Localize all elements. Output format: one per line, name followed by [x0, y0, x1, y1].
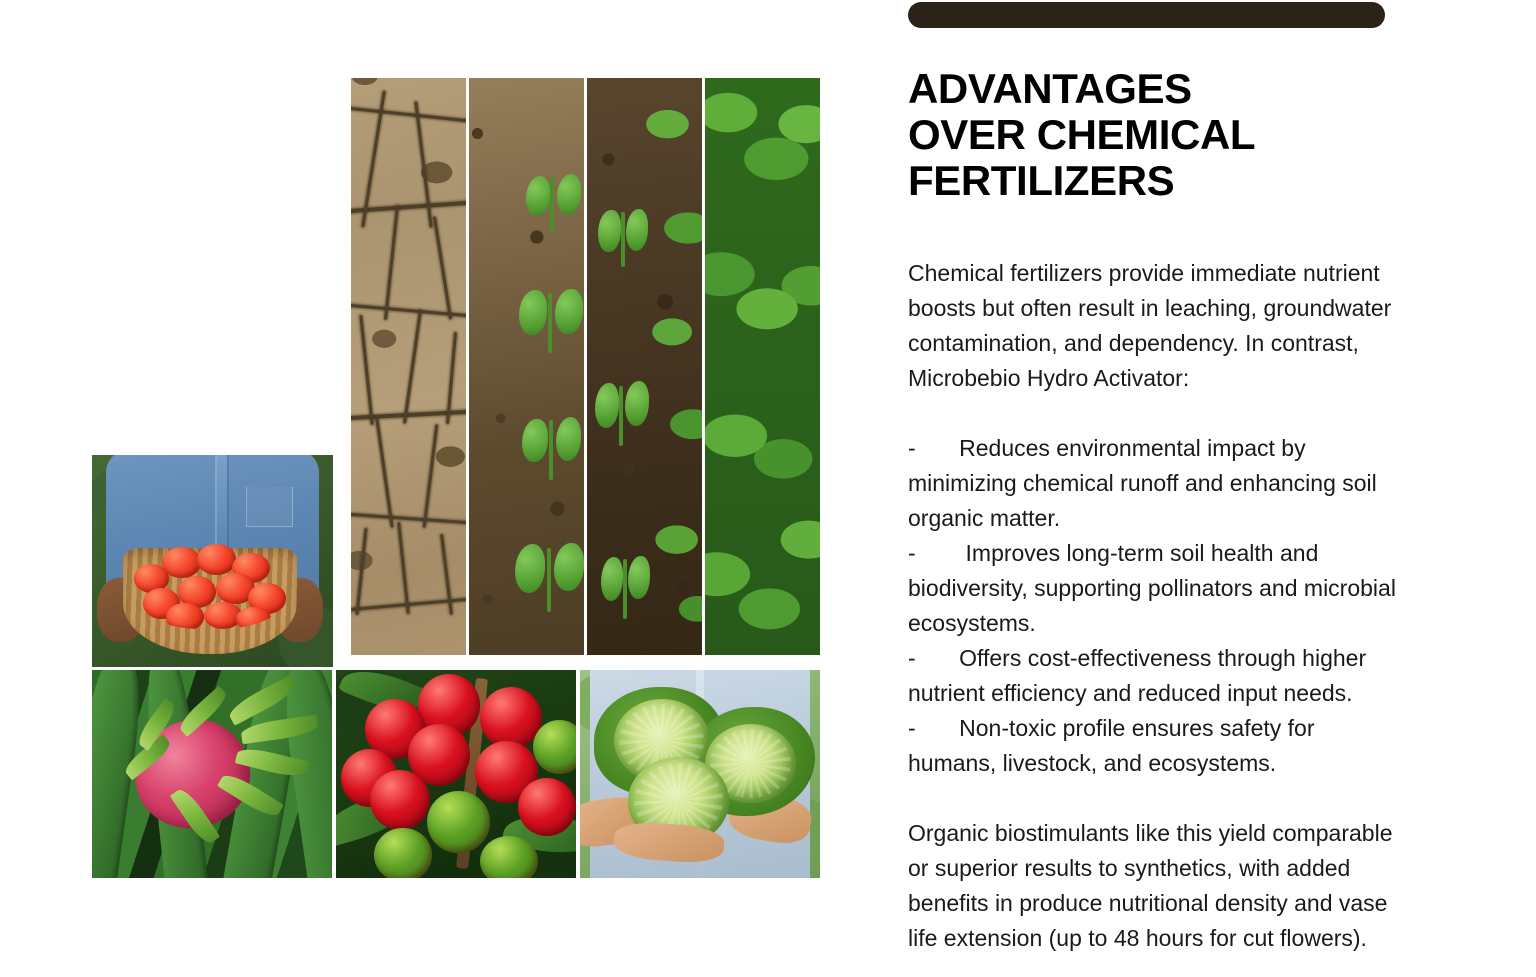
photo-farmer-holding-basket-of-tomatoes — [92, 455, 333, 667]
coffee-cherry-green — [480, 836, 538, 878]
page-title: ADVANTAGES OVER CHEMICAL FERTILIZERS — [908, 66, 1378, 204]
list-spacer — [908, 781, 1396, 816]
sprout-seedling — [522, 170, 584, 239]
coffee-cherry-red — [518, 778, 576, 836]
accent-bar — [908, 2, 1385, 28]
paragraph-spacer — [908, 396, 1396, 431]
bullet-marker: - — [908, 715, 916, 741]
list-item-text: Non-toxic profile ensures safety for hum… — [908, 715, 1321, 776]
banner-panel-soil-with-growing-rows — [587, 78, 705, 655]
bullet-gap — [916, 435, 959, 461]
list-item: - Non-toxic profile ensures safety for h… — [908, 711, 1396, 781]
text-panel: ADVANTAGES OVER CHEMICAL FERTILIZERS Che… — [908, 0, 1408, 977]
intro-paragraph: Chemical fertilizers provide immediate n… — [908, 256, 1396, 396]
coffee-cherry-red — [370, 770, 430, 830]
sprout-seedling — [517, 286, 584, 361]
sprout-seedling — [599, 551, 652, 626]
bullet-marker: - — [908, 435, 916, 461]
photo-dragon-fruit-on-cactus — [92, 670, 332, 878]
tomatoes — [131, 544, 290, 629]
photo-farmer-holding-cabbages — [580, 670, 820, 878]
photo-coffee-cherries-on-branch — [336, 670, 576, 878]
sprout-seedling — [520, 413, 584, 488]
body-content: Chemical fertilizers provide immediate n… — [908, 256, 1396, 956]
bottom-photo-row — [92, 670, 820, 878]
bullet-marker: - — [908, 645, 916, 671]
list-item-text: Improves long-term soil health and biodi… — [908, 540, 1402, 636]
banner-panel-cracked-dry-soil — [351, 78, 469, 655]
bullet-marker: - — [908, 540, 916, 566]
sprout-seedling — [596, 205, 649, 274]
list-item: - Reduces environmental impact by minimi… — [908, 431, 1396, 536]
dense-crop-canopy — [705, 78, 820, 655]
list-item: - Offers cost-effectiveness through high… — [908, 641, 1396, 711]
bullet-gap — [916, 715, 959, 741]
soil-cracks — [351, 78, 466, 655]
closing-paragraph: Organic biostimulants like this yield co… — [908, 816, 1396, 956]
bullet-gap — [916, 645, 959, 671]
benefits-list: - Reduces environmental impact by minimi… — [908, 431, 1396, 781]
sprout-seedling — [594, 378, 649, 453]
banner-panel-lush-green-crop-canopy — [705, 78, 820, 655]
slide-root: ADVANTAGES OVER CHEMICAL FERTILIZERS Che… — [0, 0, 1536, 977]
sprout-seedling — [515, 540, 584, 621]
list-item: - Improves long-term soil health and bio… — [908, 536, 1396, 641]
coffee-cherry-green — [427, 791, 489, 853]
shirt-pocket — [246, 487, 293, 527]
soil-to-crop-progression-banner — [351, 78, 820, 655]
list-item-text: Offers cost-effectiveness through higher… — [908, 645, 1373, 706]
dragon-fruit-scales — [92, 670, 332, 878]
coffee-cherry-green — [374, 828, 432, 878]
bullet-gap — [916, 540, 959, 566]
banner-panel-soil-with-young-sprouts — [469, 78, 587, 655]
list-item-text: Reduces environmental impact by minimizi… — [908, 435, 1383, 531]
